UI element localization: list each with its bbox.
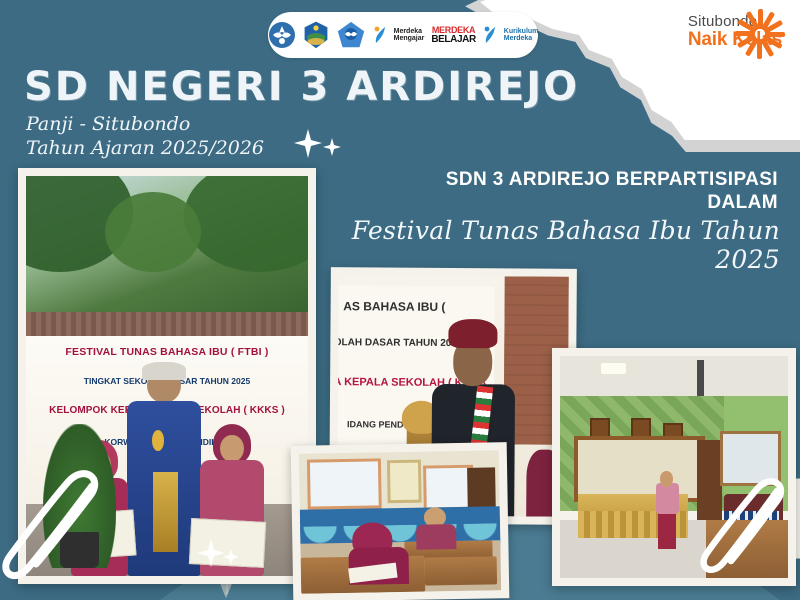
tut-wuri-handayani-logo (268, 21, 296, 49)
photo-trophy (153, 472, 178, 552)
event-heading: SDN 3 ARDIREJO BERPARTISIPASI DALAM (348, 168, 778, 214)
kabupaten-situbondo-logo (303, 20, 329, 50)
kurikulum-merdeka-text: Kurikulum Merdeka (504, 28, 539, 42)
sparkle-icon (292, 128, 348, 167)
school-location: Panji - Situbondo (26, 112, 264, 136)
partner-logo-bar: Merdeka Mengajar MERDEKA BELAJAR Kurikul… (268, 12, 538, 58)
starburst-icon (734, 8, 786, 65)
paperclip-icon (2, 468, 112, 600)
merdeka-mengajar-icon (373, 26, 387, 44)
tut-wuri-pentagon-logo (336, 20, 366, 50)
event-script-title: Festival Tunas Bahasa Ibu Tahun 2025 (310, 216, 780, 274)
award-banner-line-1: AS BAHASA IBU ( (343, 299, 445, 314)
photo-window (307, 458, 382, 510)
merdeka-belajar-text: MERDEKA BELAJAR (431, 26, 475, 44)
photo-child-body (416, 524, 456, 550)
photo-traditional-hat (449, 319, 497, 348)
merdeka-mengajar-text: Merdeka Mengajar (394, 28, 425, 42)
photo-lamp (601, 363, 626, 374)
poster-canvas: Situbondo Naik Kelas (0, 0, 800, 600)
school-year: Tahun Ajaran 2025/2026 (26, 136, 264, 160)
photo-student-body (656, 483, 679, 514)
photo-whiteboard (574, 436, 705, 502)
paperclip-icon (699, 477, 794, 592)
photo-tree (105, 192, 201, 272)
event-heading-line2: DALAM (707, 192, 778, 213)
photo-desk (425, 557, 497, 586)
photo-person-student (660, 471, 673, 487)
photo-poster (387, 460, 422, 503)
award-banner-line-2: OLAH DASAR TAHUN 2025 (337, 338, 462, 350)
photo-classroom-writing[interactable] (291, 442, 510, 600)
page-title: SD NEGERI 3 ARDIREJO (24, 64, 579, 110)
event-heading-line1: SDN 3 ARDIREJO BERPARTISIPASI (446, 169, 778, 190)
sparkle-icon (198, 537, 242, 576)
photo-student-legs (658, 511, 676, 549)
kurikulum-merdeka-icon (483, 26, 497, 44)
school-subtitle: Panji - Situbondo Tahun Ajaran 2025/2026 (26, 112, 264, 161)
banner-line-1: FESTIVAL TUNAS BAHASA IBU ( FTBI ) (43, 346, 291, 358)
brand-situbondo-naik-kelas: Situbondo Naik Kelas (688, 14, 782, 49)
